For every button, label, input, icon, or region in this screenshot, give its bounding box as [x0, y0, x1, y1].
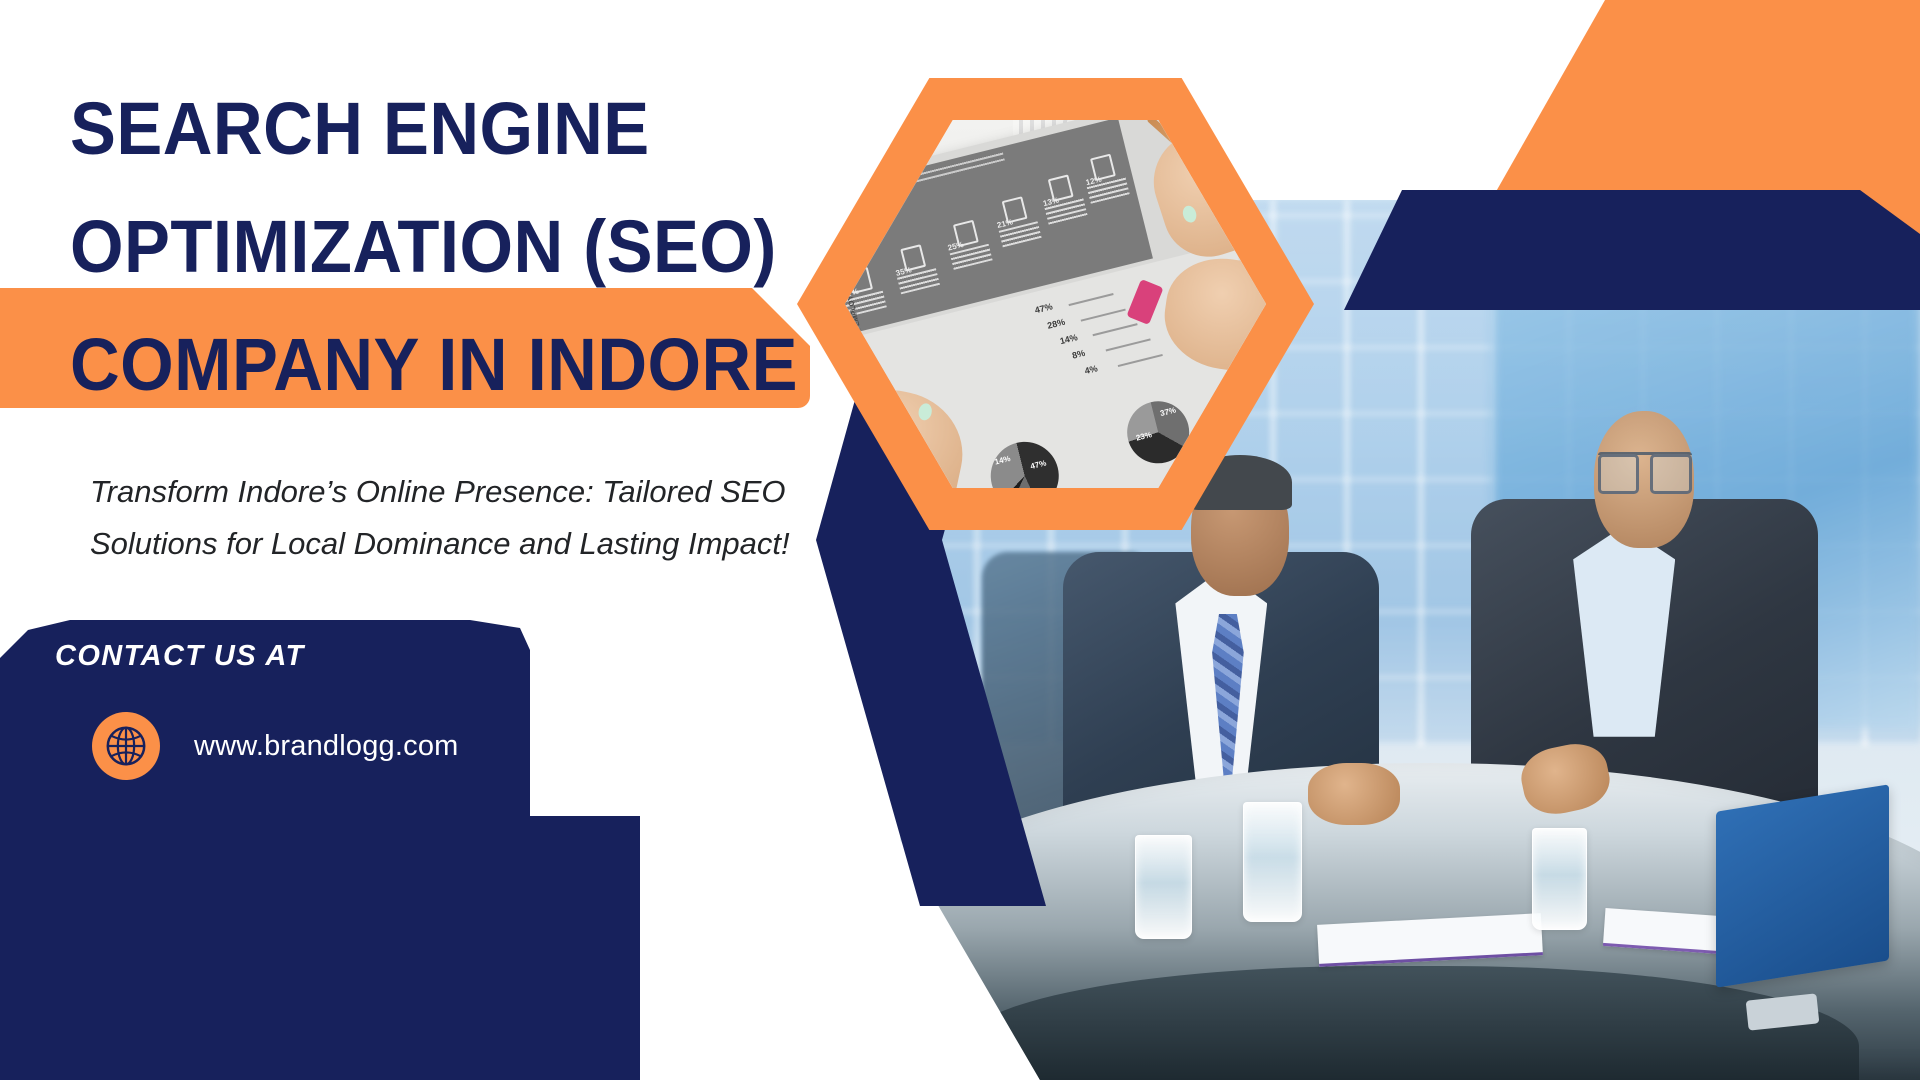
contact-panel	[0, 620, 640, 1080]
globe-icon	[92, 712, 160, 780]
stat-pct-4: 8%	[1071, 348, 1086, 361]
subtitle-line-1: Transform Indore’s Online Presence: Tail…	[90, 466, 830, 518]
stat-pct-2: 28%	[1046, 316, 1066, 330]
headline-line-2: OPTIMIZATION (SEO)	[70, 188, 758, 306]
stat-pct-1: 47%	[1034, 301, 1054, 315]
subtitle-line-2: Solutions for Local Dominance and Lastin…	[90, 518, 830, 570]
stat-pct-3: 14%	[1058, 332, 1078, 346]
stat-rule-2	[1080, 308, 1125, 321]
stat-rule-1	[1068, 293, 1113, 306]
stat-pct-5: 4%	[1083, 363, 1098, 376]
headline-line-1: SEARCH ENGINE	[70, 70, 758, 188]
headline-line-3: COMPANY IN INDORE	[70, 306, 758, 424]
contact-row[interactable]: www.brandlogg.com	[92, 712, 459, 780]
contact-label: CONTACT US AT	[55, 640, 305, 673]
subtitle: Transform Indore’s Online Presence: Tail…	[90, 466, 830, 570]
stat-rule-3	[1093, 323, 1138, 336]
stat-rule-4	[1105, 338, 1150, 351]
hexagon-photo-frame: 65% 35% 25% 21% 13% 12%	[797, 78, 1314, 530]
poster-canvas: 65% 35% 25% 21% 13% 12%	[0, 0, 1920, 1080]
fingernail-1	[917, 403, 933, 422]
page-title: SEARCH ENGINE OPTIMIZATION (SEO) COMPANY…	[70, 70, 810, 424]
website-url[interactable]: www.brandlogg.com	[194, 730, 459, 763]
fingernail-2	[1180, 204, 1198, 224]
stat-rule-5	[1118, 354, 1163, 367]
